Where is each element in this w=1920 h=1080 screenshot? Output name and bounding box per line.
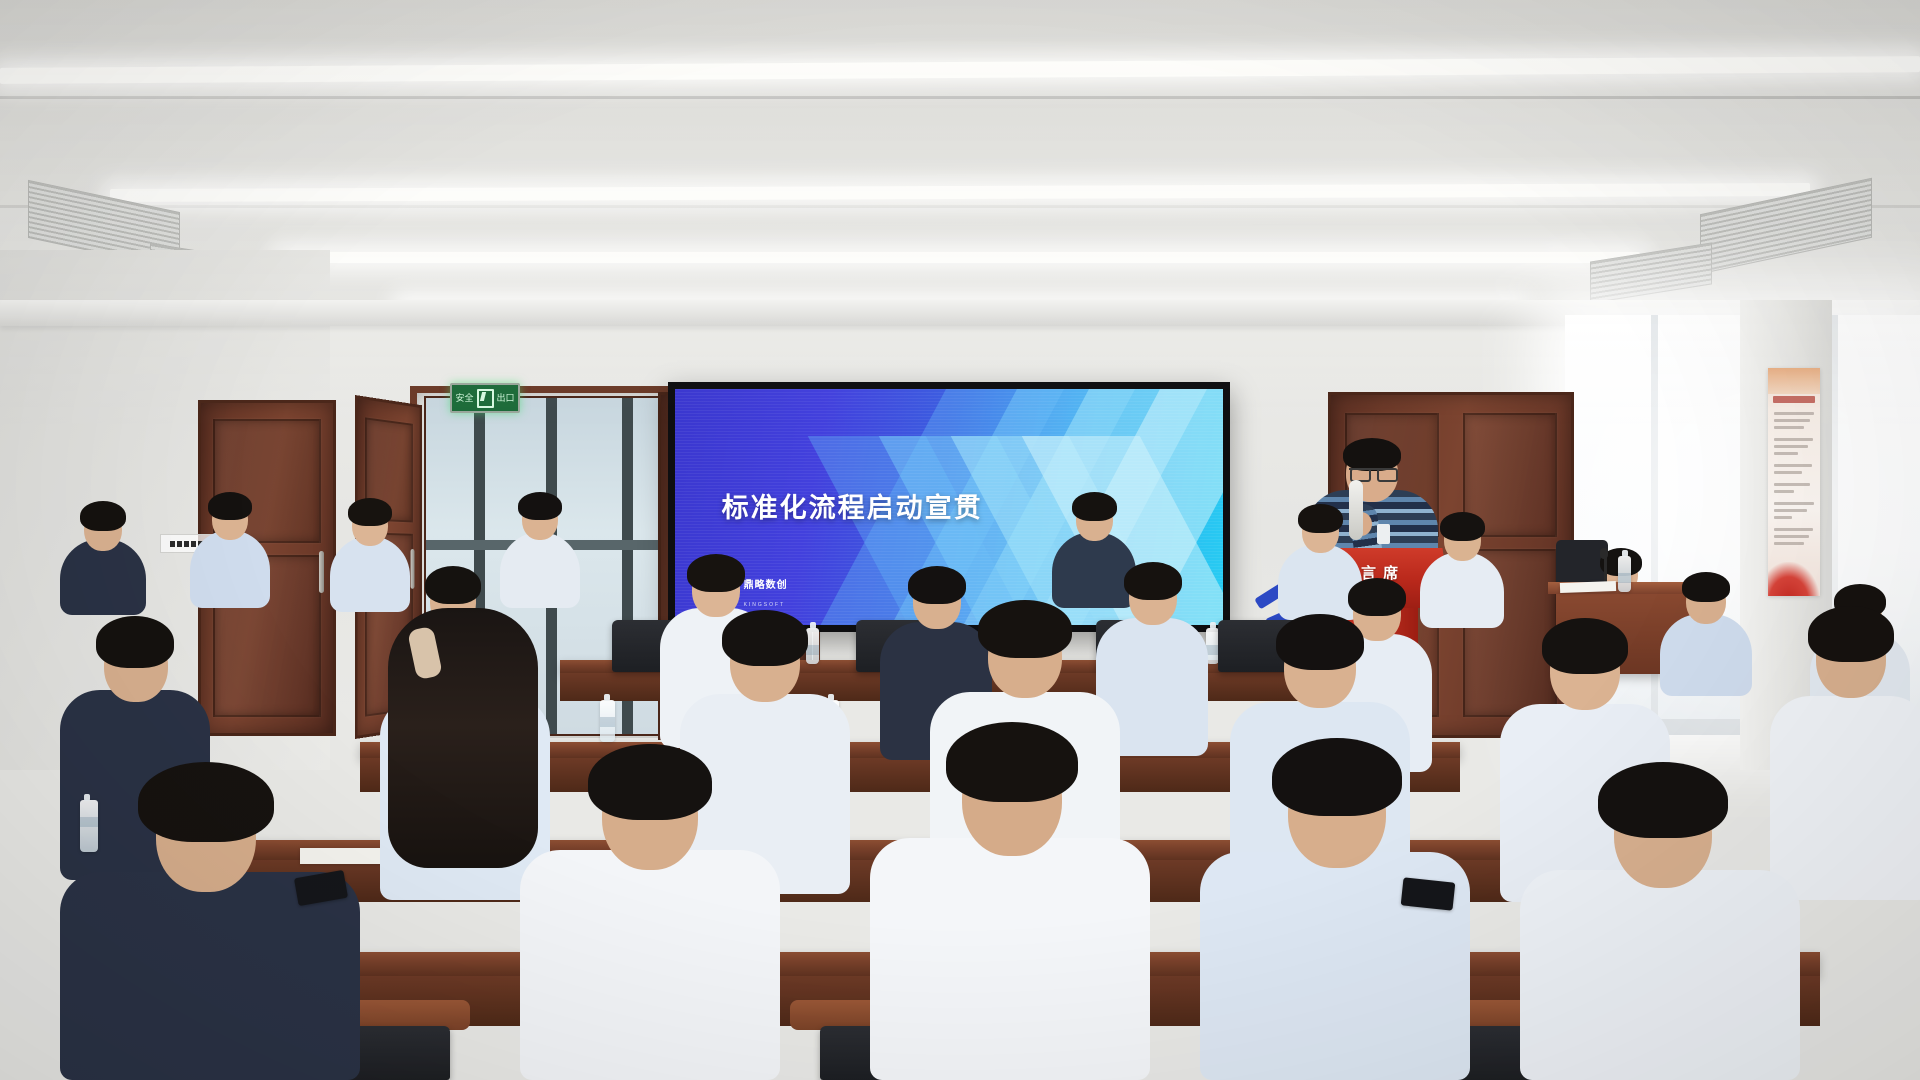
emergency-exit-sign: 安全 出口 — [450, 383, 520, 413]
lanyard-badge — [1377, 524, 1390, 544]
slide-title: 标准化流程启动宣贯 — [722, 486, 983, 525]
ceiling-light-3 — [280, 252, 1640, 263]
conference-room-photo: 安全 出口 标准化流程启动宣贯 K — [0, 0, 1920, 1080]
attendee-foreground — [60, 760, 360, 1080]
running-man-icon — [477, 389, 494, 408]
wall-poster — [1768, 368, 1820, 596]
moderator-mic-head — [1600, 548, 1608, 559]
smartphone-in-hand — [1401, 877, 1456, 910]
attendee-foreground — [520, 740, 780, 1080]
attendee-foreground — [1520, 760, 1800, 1080]
exit-sign-label-right: 出口 — [497, 394, 515, 403]
attendee — [1660, 566, 1752, 696]
attendee-foreground — [870, 720, 1150, 1080]
ceiling-light-2 — [110, 183, 1810, 202]
attendee — [60, 495, 146, 615]
attendee — [1420, 508, 1504, 628]
ceiling-light-1 — [0, 56, 1920, 84]
exit-sign-label-left: 安全 — [455, 394, 473, 403]
water-bottle — [1618, 556, 1631, 592]
moderator-papers — [1560, 581, 1616, 593]
attendee — [190, 488, 270, 608]
speaker-hair — [1343, 438, 1401, 471]
attendee — [500, 488, 580, 608]
attendee — [330, 492, 410, 612]
water-bottle — [600, 700, 615, 742]
